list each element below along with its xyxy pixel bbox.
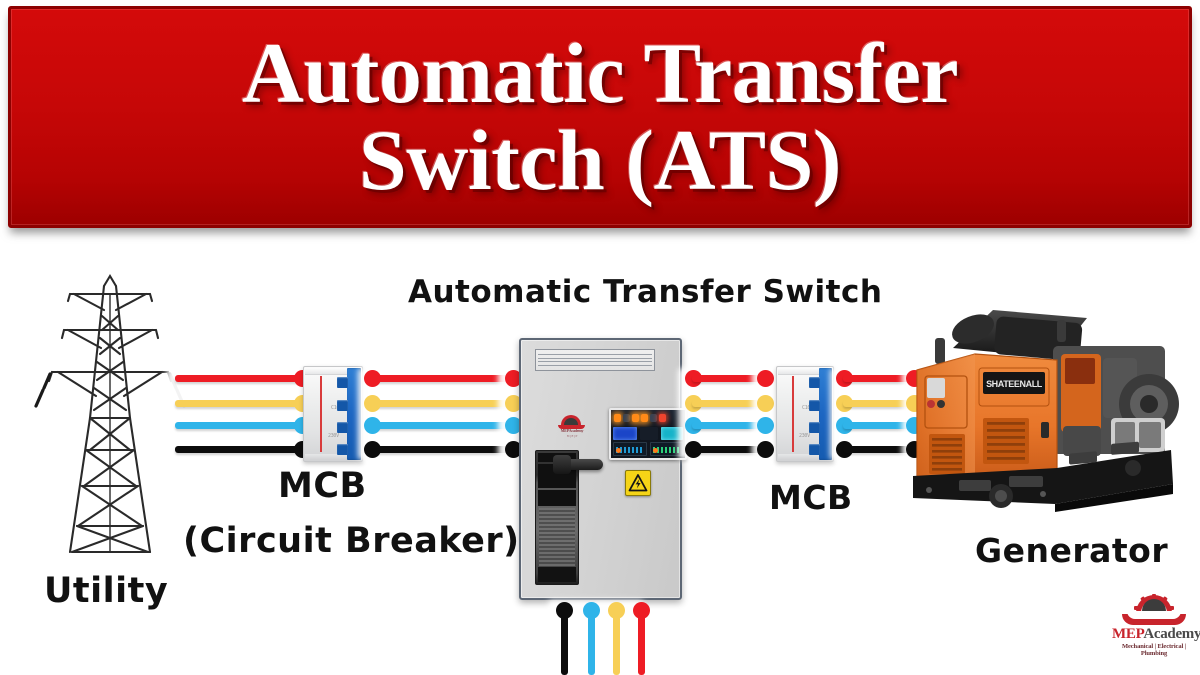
terminal-dot-blue-3 [757, 417, 774, 434]
wire-ats-mcbr-red [692, 375, 760, 382]
mcb-left[interactable]: C16 230V [303, 366, 363, 462]
wire-mcb-ats-blue [370, 422, 516, 429]
wire-utility-neutral [175, 446, 303, 453]
wire-load-blue [588, 608, 595, 675]
lamp-utility-on [614, 414, 621, 422]
ats-controller-display[interactable] [609, 408, 687, 460]
utility-label: Utility [44, 571, 168, 611]
terminal-dot-yellow-3 [757, 395, 774, 412]
wire-utility-yellow [175, 400, 303, 407]
meter-pane-left [613, 442, 647, 456]
circuit-breaker-label: (Circuit Breaker) [183, 521, 520, 561]
swoosh-shape [1122, 614, 1186, 625]
wire-ats-mcbr-yellow [692, 400, 760, 407]
wire-load-yellow [613, 608, 620, 675]
mcb-terminal-3 [337, 422, 348, 433]
title-banner: Automatic Transfer Switch (ATS) [8, 6, 1192, 228]
mcb-print-4: 230V [799, 434, 810, 440]
watermark-mep: MEP [1112, 626, 1143, 642]
mcb-terminal-2 [337, 400, 348, 411]
wire-ats-mcbr-neutral [692, 446, 760, 453]
generator-label: Generator [975, 531, 1168, 570]
wire-utility-blue [175, 422, 303, 429]
generator-image: SHATEENALL [905, 298, 1190, 523]
mcb-terminal-4 [337, 444, 348, 455]
diagram-canvas: Automatic Transfer Switch (ATS) [0, 0, 1200, 675]
lamp-alarm [659, 414, 666, 422]
lamp-dim-1 [623, 414, 630, 422]
watermark-academy: Academy [1143, 626, 1200, 642]
mcb-terminal-8 [809, 444, 820, 455]
wire-mcb-ats-neutral [370, 446, 516, 453]
wire-mcb-ats-red [370, 375, 516, 382]
wire-mcb-ats-yellow [370, 400, 516, 407]
mcb-terminal-5 [809, 377, 820, 388]
manual-operating-handle[interactable] [565, 459, 603, 470]
title-line-1: Automatic Transfer [31, 31, 1169, 116]
terminal-dot-blue-2 [364, 417, 381, 434]
mcb-right[interactable]: C16 230V [776, 366, 834, 462]
watermark-tagline: Mechanical | Electrical | Plumbing [1112, 643, 1196, 657]
generator-brand-text: SHATEENALL [986, 379, 1043, 389]
mcb-terminal-7 [809, 422, 820, 433]
ventilation-louver [535, 349, 655, 371]
lamp-load-on [641, 414, 648, 422]
terminal-dot-neutral-2 [364, 441, 381, 458]
lamp-gen-on [632, 414, 639, 422]
indicator-lamp-row [611, 410, 685, 426]
mep-academy-watermark: MEPAcademy Mechanical | Electrical | Plu… [1112, 594, 1196, 656]
wire-load-neutral [561, 608, 568, 675]
terminal-dot-yellow-2 [364, 395, 381, 412]
mcb-trip-indicator-2 [792, 376, 794, 452]
display-screens [613, 427, 683, 440]
terminal-dot-red-2 [364, 370, 381, 387]
screen-dark [640, 427, 658, 440]
title-line-2: Switch (ATS) [31, 118, 1169, 203]
ats-title-label: Automatic Transfer Switch [408, 274, 882, 310]
mcb-terminal-6 [809, 400, 820, 411]
wire-ats-mcbr-blue [692, 422, 760, 429]
terminal-dot-red-3 [757, 370, 774, 387]
ats-logo-tagline: M | E | P [555, 434, 589, 438]
terminal-dot-neutral-3 [757, 441, 774, 458]
wire-utility-red [175, 375, 303, 382]
lamp-dim-2 [650, 414, 657, 422]
watermark-name: MEPAcademy [1112, 627, 1196, 642]
screen-blue [613, 427, 637, 440]
mcb-right-label: MCB [769, 478, 853, 517]
wire-load-red [638, 608, 645, 675]
mcb-print-2: 230V [328, 434, 339, 440]
display-lower-panes [613, 442, 683, 456]
mcb-left-label: MCB [278, 466, 367, 506]
ats-brand-logo: MEPAcademy M | E | P [553, 414, 591, 440]
mcb-trip-indicator [320, 376, 322, 452]
mcb-terminal-1 [337, 377, 348, 388]
ats-panel[interactable]: MEPAcademy M | E | P [519, 338, 682, 600]
electrical-hazard-icon [625, 470, 651, 496]
